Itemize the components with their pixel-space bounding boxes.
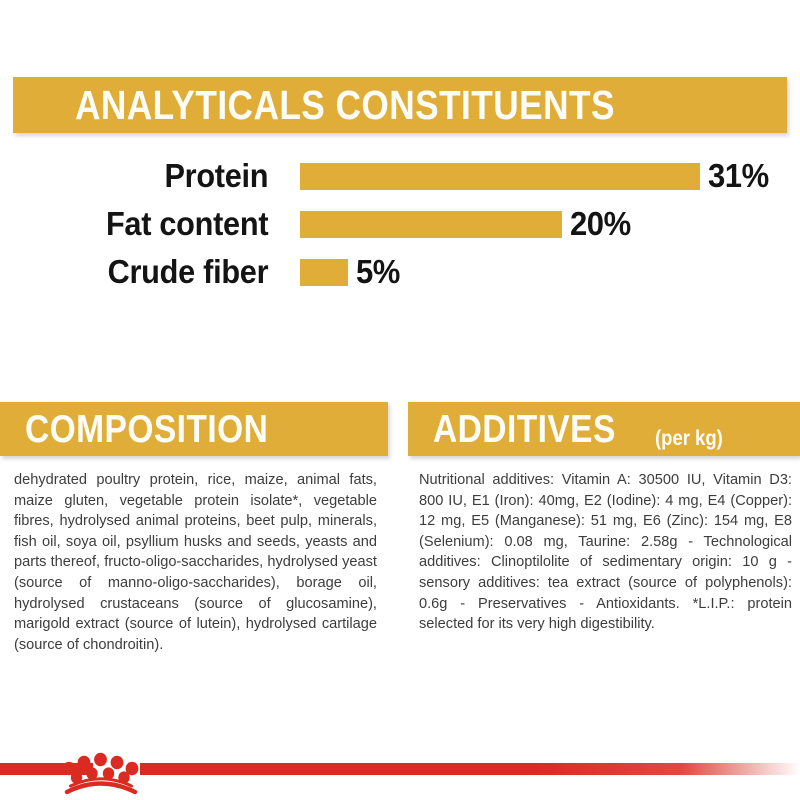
detail-columns: COMPOSITION dehydrated poultry protein, … [0, 402, 800, 655]
nutrition-info-panel: ANALYTICALS CONSTITUENTS Protein 31% Fat… [0, 0, 800, 800]
additives-header: ADDITIVES (per kg) [408, 402, 800, 456]
additives-unit-note: (per kg) [655, 427, 723, 456]
chart-category-label: Fat content [20, 205, 285, 243]
chart-row: Crude fiber 5% [0, 248, 800, 296]
additives-column: ADDITIVES (per kg) Nutritional additives… [408, 402, 800, 655]
chart-row: Fat content 20% [0, 200, 800, 248]
chart-bar-crude-fiber [300, 259, 348, 286]
chart-bar-protein [300, 163, 700, 190]
additives-text: Nutritional additives: Vitamin A: 30500 … [408, 470, 800, 635]
analytical-constituents-chart: Protein 31% Fat content 20% Crude fiber … [0, 152, 800, 317]
chart-value-label: 20% [570, 205, 631, 243]
chart-value-label: 31% [708, 157, 769, 195]
footer-rule-right [140, 763, 800, 775]
composition-column: COMPOSITION dehydrated poultry protein, … [0, 402, 388, 655]
chart-bar-track: 5% [300, 248, 800, 296]
chart-value-label: 5% [356, 253, 400, 291]
chart-category-label: Crude fiber [20, 253, 285, 291]
chart-bar-fat-content [300, 211, 562, 238]
chart-row: Protein 31% [0, 152, 800, 200]
composition-header: COMPOSITION [0, 402, 388, 456]
chart-bar-track: 31% [300, 152, 800, 200]
chart-bar-track: 20% [300, 200, 800, 248]
additives-heading: ADDITIVES [433, 410, 616, 449]
composition-text: dehydrated poultry protein, rice, maize,… [0, 470, 388, 655]
royal-crown-icon [57, 748, 145, 796]
brand-footer [0, 748, 800, 800]
composition-heading: COMPOSITION [25, 410, 268, 449]
page-title: ANALYTICALS CONSTITUENTS [75, 85, 615, 126]
analytical-constituents-header: ANALYTICALS CONSTITUENTS [13, 77, 787, 133]
chart-category-label: Protein [20, 157, 285, 195]
